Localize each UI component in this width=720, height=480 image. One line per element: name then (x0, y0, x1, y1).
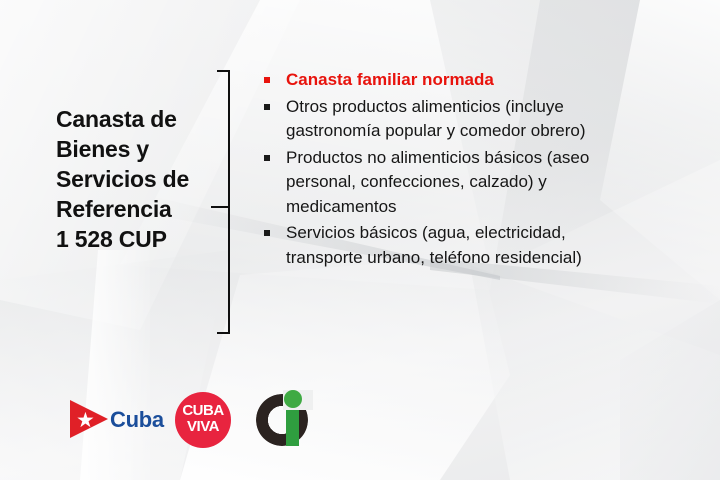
ci-i-dot-icon (284, 390, 302, 408)
page-title-line-1: Canasta de (56, 104, 222, 134)
cuba-viva-line-2: VIVA (175, 419, 231, 435)
background-facet-7 (470, 255, 720, 480)
list-item: Canasta familiar normada (264, 68, 594, 93)
square-bullet-icon (264, 155, 270, 161)
ci-logo (256, 390, 318, 450)
square-bullet-icon (264, 77, 270, 83)
cuba-logo: ★ Cuba (70, 390, 165, 450)
ci-i-stem-icon (286, 410, 299, 446)
list-item: Productos no alimenticios básicos (aseo … (264, 146, 594, 220)
bracket-connector (215, 70, 231, 334)
list-item-label: Productos no alimenticios básicos (aseo … (286, 148, 589, 216)
cuba-viva-line-1: CUBA (175, 403, 231, 419)
star-icon: ★ (76, 410, 95, 431)
bracket-spine (228, 70, 230, 334)
list-item-label: Otros productos alimenticios (incluye ga… (286, 97, 586, 141)
bullet-list: Canasta familiar normada Otros productos… (264, 68, 594, 272)
page-title-line-4: Referencia (56, 194, 222, 224)
background-facet-11 (620, 300, 720, 480)
bracket-tick-bottom (217, 332, 229, 334)
cuba-viva-logo: CUBA VIVA (175, 390, 233, 450)
page-title: Canasta de Bienes y Servicios de Referen… (56, 104, 222, 254)
list-item: Otros productos alimenticios (incluye ga… (264, 95, 594, 144)
square-bullet-icon (264, 230, 270, 236)
list-item-label: Canasta familiar normada (286, 70, 494, 89)
page-title-amount: 1 528 CUP (56, 224, 222, 254)
background-facet-4 (600, 0, 720, 300)
page-title-line-3: Servicios de (56, 164, 222, 194)
page-title-line-2: Bienes y (56, 134, 222, 164)
bracket-tick-top (217, 70, 229, 72)
list-item: Servicios básicos (agua, electricidad, t… (264, 221, 594, 270)
slide-canvas: Canasta de Bienes y Servicios de Referen… (0, 0, 720, 480)
square-bullet-icon (264, 104, 270, 110)
bracket-tick-middle (211, 206, 229, 208)
cuba-wordmark: Cuba (110, 407, 164, 433)
cuba-viva-wordmark: CUBA VIVA (175, 403, 231, 434)
list-item-label: Servicios básicos (agua, electricidad, t… (286, 223, 582, 267)
